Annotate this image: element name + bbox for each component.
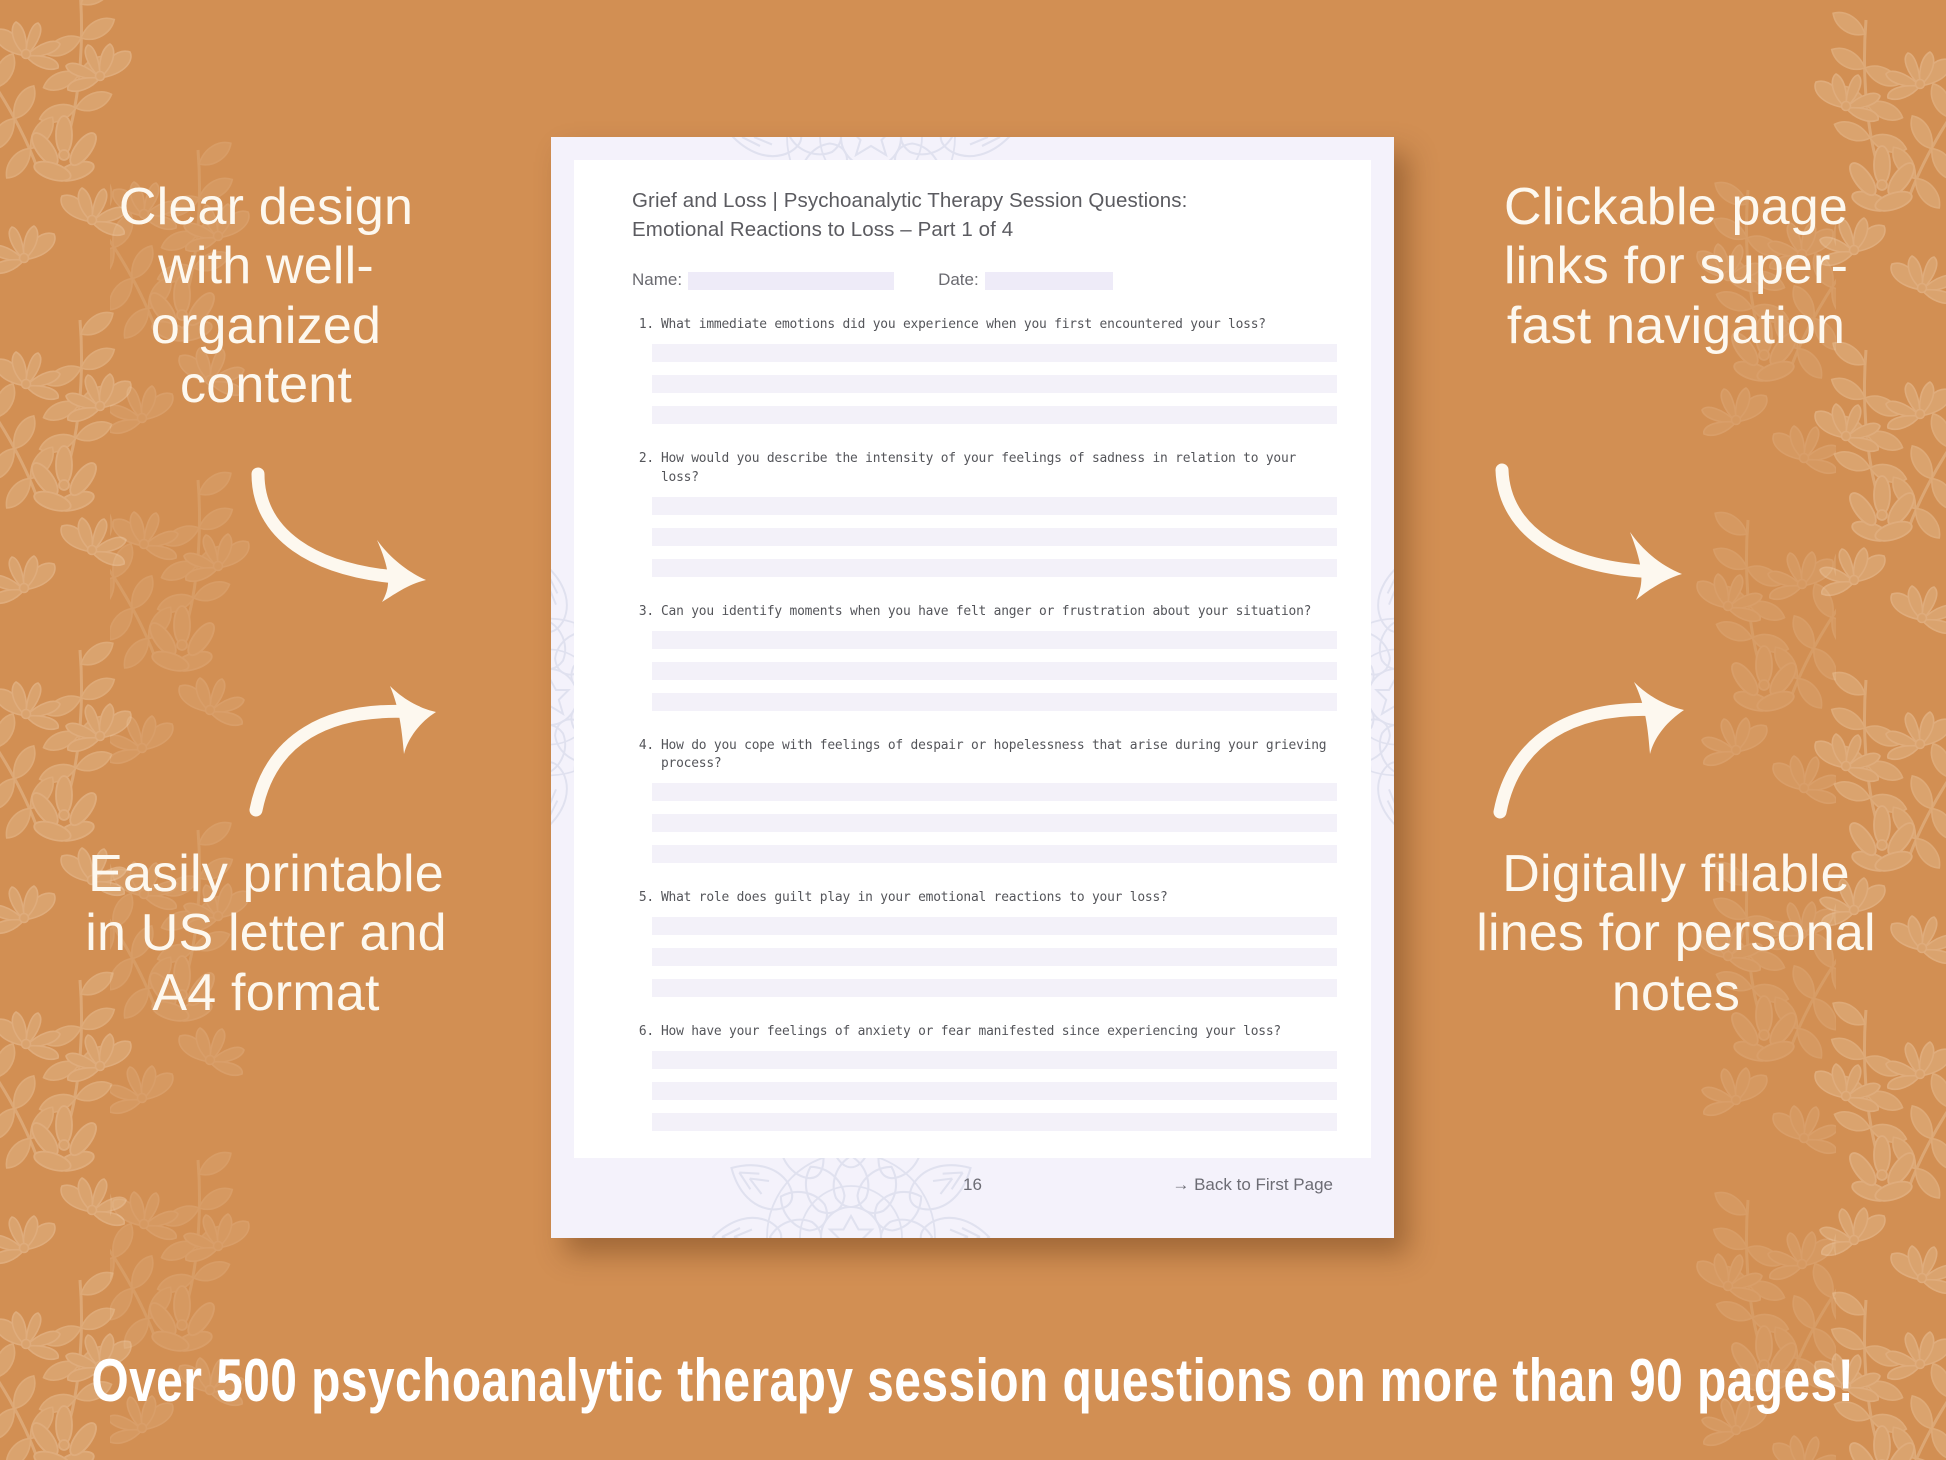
answer-line[interactable] (652, 344, 1337, 362)
questions-list: 1.What immediate emotions did you experi… (632, 316, 1337, 1131)
answer-lines (652, 917, 1337, 997)
question-number: 2. (632, 450, 661, 488)
answer-line[interactable] (652, 1051, 1337, 1069)
curved-arrow-down-left-icon (1484, 452, 1704, 602)
answer-line[interactable] (652, 631, 1337, 649)
question-number: 6. (632, 1023, 661, 1042)
question-number: 5. (632, 889, 661, 908)
answer-lines (652, 783, 1337, 863)
curved-arrow-up-left-icon (1484, 676, 1704, 826)
answer-line[interactable] (652, 979, 1337, 997)
question-block: 5.What role does guilt play in your emot… (632, 889, 1337, 997)
question-text: Can you identify moments when you have f… (661, 603, 1337, 622)
caption-easily-printable: Easily printable in US letter and A4 for… (66, 845, 466, 1023)
bottom-banner: Over 500 psychoanalytic therapy session … (0, 1300, 1946, 1460)
question-text-row: 1.What immediate emotions did you experi… (632, 316, 1337, 335)
curved-arrow-up-right-icon (240, 682, 460, 822)
question-text-row: 2.How would you describe the intensity o… (632, 450, 1337, 488)
date-label: Date: (938, 270, 979, 290)
worksheet-sheet: Grief and Loss | Psychoanalytic Therapy … (574, 160, 1371, 1158)
answer-line[interactable] (652, 1113, 1337, 1131)
question-text: What immediate emotions did you experien… (661, 316, 1337, 335)
answer-line[interactable] (652, 845, 1337, 863)
answer-lines (652, 631, 1337, 711)
question-text-row: 5.What role does guilt play in your emot… (632, 889, 1337, 908)
answer-line[interactable] (652, 814, 1337, 832)
caption-fillable-lines: Digitally fillable lines for personal no… (1466, 845, 1886, 1023)
answer-line[interactable] (652, 497, 1337, 515)
answer-lines (652, 344, 1337, 424)
question-block: 3.Can you identify moments when you have… (632, 603, 1337, 711)
document-title-line1: Grief and Loss | Psychoanalytic Therapy … (632, 186, 1337, 215)
question-block: 4.How do you cope with feelings of despa… (632, 737, 1337, 864)
page-number: 16 (963, 1175, 982, 1195)
document-title: Grief and Loss | Psychoanalytic Therapy … (632, 186, 1337, 244)
answer-line[interactable] (652, 528, 1337, 546)
question-text-row: 6.How have your feelings of anxiety or f… (632, 1023, 1337, 1042)
question-block: 6.How have your feelings of anxiety or f… (632, 1023, 1337, 1131)
answer-line[interactable] (652, 375, 1337, 393)
question-number: 4. (632, 737, 661, 775)
name-label: Name: (632, 270, 682, 290)
question-text: What role does guilt play in your emotio… (661, 889, 1337, 908)
answer-lines (652, 1051, 1337, 1131)
question-number: 1. (632, 316, 661, 335)
answer-line[interactable] (652, 917, 1337, 935)
date-input[interactable] (985, 272, 1113, 290)
question-text: How would you describe the intensity of … (661, 450, 1337, 488)
answer-line[interactable] (652, 948, 1337, 966)
question-block: 1.What immediate emotions did you experi… (632, 316, 1337, 424)
answer-line[interactable] (652, 662, 1337, 680)
answer-lines (652, 497, 1337, 577)
worksheet-page[interactable]: Grief and Loss | Psychoanalytic Therapy … (551, 137, 1394, 1238)
question-number: 3. (632, 603, 661, 622)
name-date-row: Name: Date: (632, 270, 1337, 290)
answer-line[interactable] (652, 693, 1337, 711)
name-input[interactable] (688, 272, 894, 290)
answer-line[interactable] (652, 1082, 1337, 1100)
page-footer: 16 → Back to First Page (574, 1167, 1371, 1215)
question-text: How do you cope with feelings of despair… (661, 737, 1337, 775)
answer-line[interactable] (652, 406, 1337, 424)
answer-line[interactable] (652, 783, 1337, 801)
question-text: How have your feelings of anxiety or fea… (661, 1023, 1337, 1042)
question-text-row: 3.Can you identify moments when you have… (632, 603, 1337, 622)
caption-clickable-links: Clickable page links for super-fast navi… (1466, 178, 1886, 356)
caption-clear-design: Clear design with well-organized content (66, 178, 466, 415)
banner-text: Over 500 psychoanalytic therapy session … (92, 1346, 1855, 1415)
question-text-row: 4.How do you cope with feelings of despa… (632, 737, 1337, 775)
question-block: 2.How would you describe the intensity o… (632, 450, 1337, 577)
curved-arrow-down-right-icon (240, 462, 460, 602)
answer-line[interactable] (652, 559, 1337, 577)
back-to-first-page-link[interactable]: → Back to First Page (1172, 1175, 1333, 1195)
document-title-line2: Emotional Reactions to Loss – Part 1 of … (632, 215, 1337, 244)
